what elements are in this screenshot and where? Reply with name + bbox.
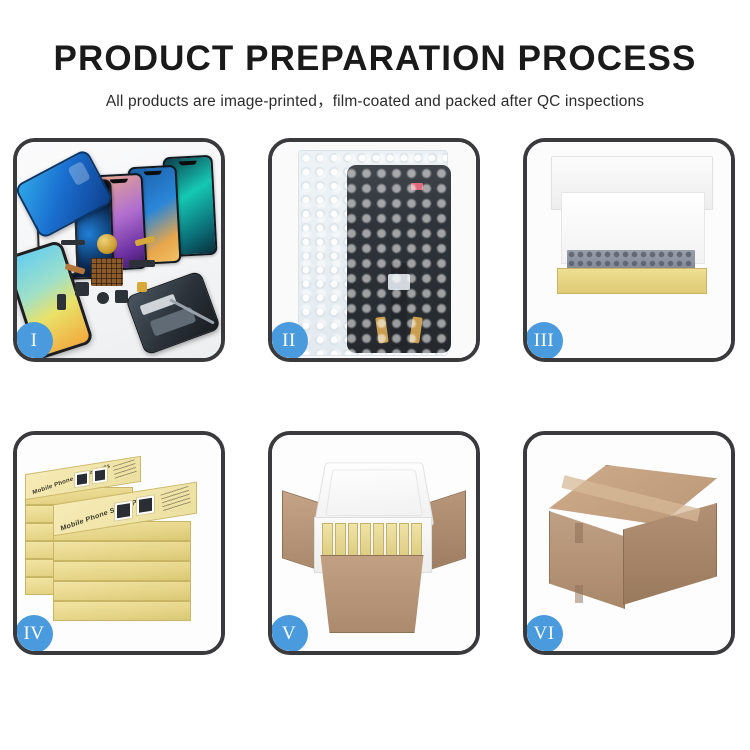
process-panel-1[interactable]: I xyxy=(13,138,225,362)
process-panel-grid: I II xyxy=(13,138,737,655)
panel-5-image: V xyxy=(272,435,476,651)
panel-4-image: Mobile Phone Spare Parts Mobile Phone Sp… xyxy=(17,435,221,651)
button-part xyxy=(97,292,109,304)
panel-2-badge: II xyxy=(272,322,308,358)
mesh-grille-part xyxy=(91,258,123,286)
panel-3-badge: III xyxy=(527,322,563,358)
carton-seam-upper xyxy=(575,523,583,543)
gold-contact-right xyxy=(409,316,423,343)
bubble-wrap-bag xyxy=(298,150,448,356)
process-panel-5[interactable]: V xyxy=(268,431,480,655)
panel-5-badge: V xyxy=(272,615,308,651)
process-panel-3[interactable]: III xyxy=(523,138,735,362)
phone-notch-icon xyxy=(179,161,197,166)
phone-notch-icon xyxy=(143,171,161,176)
carton-body xyxy=(316,555,428,633)
panel-4-badge: IV xyxy=(17,615,53,651)
lcd-screen-assembly xyxy=(347,165,451,353)
phone-notch-icon xyxy=(110,179,128,184)
page-subtitle: All products are image-printed，film-coat… xyxy=(0,80,750,111)
stacked-box xyxy=(53,601,191,621)
box-spec-lines xyxy=(113,459,137,481)
stacked-box xyxy=(53,581,191,601)
screw-part xyxy=(137,282,147,292)
gold-contact-left xyxy=(375,316,389,343)
camera-module-part xyxy=(75,282,89,296)
sensor-part xyxy=(115,290,128,303)
box-spec-lines xyxy=(161,486,192,514)
panel-3-image: III xyxy=(527,142,731,358)
lcd-connector xyxy=(388,274,410,290)
speaker-part xyxy=(61,240,85,245)
box-screen-swatch xyxy=(74,470,90,489)
process-panel-2[interactable]: II xyxy=(268,138,480,362)
inner-box-front-panel xyxy=(557,268,707,294)
vibration-motor-part xyxy=(97,234,117,254)
box-screen-swatch xyxy=(92,466,108,485)
stacked-box xyxy=(53,561,191,581)
panel-1-image: I xyxy=(17,142,221,358)
box-screen-swatch xyxy=(136,494,155,516)
page-header: PRODUCT PREPARATION PROCESS All products… xyxy=(0,0,750,111)
process-panel-4[interactable]: Mobile Phone Spare Parts Mobile Phone Sp… xyxy=(13,431,225,655)
box-screen-swatch xyxy=(114,500,133,522)
panel-6-image: VI xyxy=(527,435,731,651)
carton-seam-lower xyxy=(575,585,583,603)
panel-1-badge: I xyxy=(17,322,53,358)
panel-6-badge: VI xyxy=(527,615,563,651)
panel-2-image: II xyxy=(272,142,476,358)
page-title: PRODUCT PREPARATION PROCESS xyxy=(0,0,750,80)
stacked-box xyxy=(53,541,191,561)
sim-tray-part xyxy=(57,294,66,310)
red-protective-tab xyxy=(411,183,423,190)
connector-part xyxy=(129,260,155,267)
process-panel-6[interactable]: VI xyxy=(523,431,735,655)
